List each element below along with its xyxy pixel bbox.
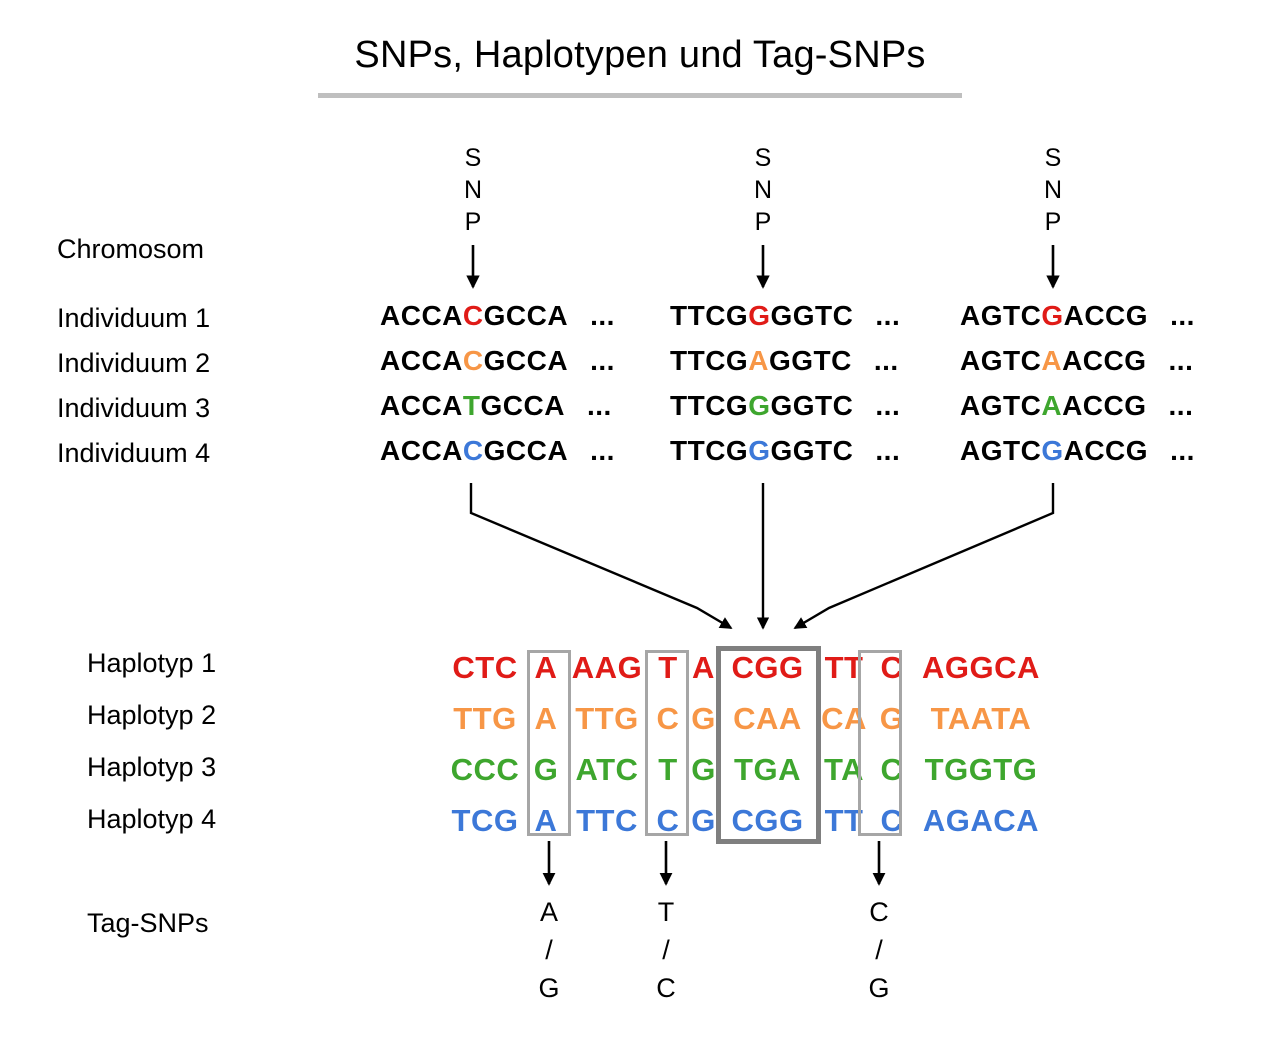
haplotype-cell: TGA bbox=[720, 752, 815, 788]
page-title: SNPs, Haplotypen und Tag-SNPs bbox=[0, 34, 1280, 77]
haplotype-row-3: CCCGATCTGTGATACTGGTG bbox=[443, 752, 1051, 803]
sequence-snp-base: A bbox=[1041, 345, 1062, 377]
sequence-suffix: GCCA bbox=[484, 300, 568, 332]
sequence-prefix: TTCG bbox=[670, 390, 748, 422]
haplotype-label-3: Haplotyp 3 bbox=[87, 752, 216, 783]
haplotype-cell: TCG bbox=[443, 803, 527, 839]
sequence-suffix: GGTC bbox=[771, 300, 854, 332]
sequence-ellipsis: ... bbox=[1170, 435, 1195, 467]
haplotype-row-4: TCGATTCCGCGGTTCAGACA bbox=[443, 803, 1051, 854]
sequence-snp-base: G bbox=[748, 435, 770, 467]
haplotype-cell: TA bbox=[815, 752, 873, 788]
snp-marker-1-letter-p: P bbox=[458, 206, 488, 238]
haplotype-block: CTCAAAGTACGGTTCAGGCATTGATTGCGCAACAGTAATA… bbox=[443, 650, 1051, 854]
sequence-snp-base: C bbox=[463, 300, 484, 332]
haplotype-cell: CCC bbox=[443, 752, 527, 788]
haplotype-cell: TGGTG bbox=[911, 752, 1051, 788]
haplotype-cell: T bbox=[649, 650, 687, 686]
sequence-snp-base: G bbox=[1041, 435, 1063, 467]
tag-snp-readout-1-slash: / bbox=[529, 931, 569, 969]
sequence-row-4-block-2: TTCGGGGTC... bbox=[670, 435, 900, 469]
haplotype-cell: AGACA bbox=[911, 803, 1051, 839]
sequence-row-4-block-3: AGTCGACCG... bbox=[960, 435, 1195, 469]
haplotype-cell: G bbox=[687, 752, 720, 788]
sequence-suffix: GGTC bbox=[771, 435, 854, 467]
sequence-prefix: AGTC bbox=[960, 300, 1041, 332]
arrow-overlay bbox=[0, 0, 1280, 1057]
haplotype-cell: CGG bbox=[720, 803, 815, 839]
sequence-ellipsis: ... bbox=[1169, 390, 1194, 422]
sequence-prefix: ACCA bbox=[380, 300, 463, 332]
sequence-ellipsis: ... bbox=[587, 390, 612, 422]
snp-marker-1-letter-s: S bbox=[458, 142, 488, 174]
sequence-suffix: GCCA bbox=[484, 435, 568, 467]
tag-snp-readout-2-slash: / bbox=[646, 931, 686, 969]
sequence-snp-base: G bbox=[748, 300, 770, 332]
sequence-ellipsis: ... bbox=[590, 345, 615, 377]
haplotype-label-1: Haplotyp 1 bbox=[87, 648, 216, 679]
sequence-row-1-block-3: AGTCGACCG... bbox=[960, 300, 1195, 334]
sequence-row-1-block-2: TTCGGGGTC... bbox=[670, 300, 900, 334]
haplotype-cell: C bbox=[649, 701, 687, 737]
haplotype-cell: TT bbox=[815, 650, 873, 686]
sequence-prefix: TTCG bbox=[670, 435, 748, 467]
individual-label-4: Individuum 4 bbox=[57, 438, 210, 469]
sequence-row-3-block-3: AGTCAACCG... bbox=[960, 390, 1193, 424]
haplotype-cell: CGG bbox=[720, 650, 815, 686]
tag-snp-readout-2: T / C bbox=[646, 893, 686, 1007]
sequence-ellipsis: ... bbox=[1169, 345, 1194, 377]
haplotype-label-2: Haplotyp 2 bbox=[87, 700, 216, 731]
snp-marker-1: S N P bbox=[458, 142, 488, 238]
snp-marker-1-letter-n: N bbox=[458, 174, 488, 206]
haplotype-cell: C bbox=[873, 752, 911, 788]
sequence-suffix: GGTC bbox=[769, 345, 852, 377]
sequence-suffix: ACCG bbox=[1062, 345, 1146, 377]
sequence-suffix: GCCA bbox=[481, 390, 565, 422]
tag-snps-label: Tag-SNPs bbox=[87, 908, 209, 939]
tag-snp-readout-1-bottom: G bbox=[529, 969, 569, 1007]
sequence-prefix: ACCA bbox=[380, 345, 463, 377]
snp-marker-3: S N P bbox=[1038, 142, 1068, 238]
sequence-prefix: ACCA bbox=[380, 435, 463, 467]
haplotype-cell: TTG bbox=[443, 701, 527, 737]
sequence-prefix: AGTC bbox=[960, 390, 1041, 422]
sequence-ellipsis: ... bbox=[1170, 300, 1195, 332]
sequence-ellipsis: ... bbox=[875, 300, 900, 332]
connector-right bbox=[795, 483, 1053, 628]
sequence-row-4-block-1: ACCACGCCA... bbox=[380, 435, 615, 469]
sequence-suffix: ACCG bbox=[1062, 390, 1146, 422]
haplotype-row-2: TTGATTGCGCAACAGTAATA bbox=[443, 701, 1051, 752]
haplotype-cell: A bbox=[527, 803, 565, 839]
snp-marker-2-letter-n: N bbox=[748, 174, 778, 206]
haplotype-cell: CA bbox=[815, 701, 873, 737]
tag-snp-readout-3-bottom: G bbox=[859, 969, 899, 1007]
sequence-ellipsis: ... bbox=[874, 345, 899, 377]
chromosom-label: Chromosom bbox=[57, 234, 204, 265]
sequence-ellipsis: ... bbox=[590, 300, 615, 332]
sequence-prefix: ACCA bbox=[380, 390, 463, 422]
haplotype-cell: A bbox=[687, 650, 720, 686]
sequence-row-1-block-1: ACCACGCCA... bbox=[380, 300, 615, 334]
sequence-snp-base: A bbox=[748, 345, 769, 377]
haplotype-cell: C bbox=[649, 803, 687, 839]
haplotype-cell: G bbox=[687, 701, 720, 737]
individual-label-2: Individuum 2 bbox=[57, 348, 210, 379]
haplotype-cell: T bbox=[649, 752, 687, 788]
sequence-ellipsis: ... bbox=[875, 435, 900, 467]
haplotype-cell: AAG bbox=[565, 650, 649, 686]
individual-label-3: Individuum 3 bbox=[57, 393, 210, 424]
sequence-suffix: GCCA bbox=[484, 345, 568, 377]
tag-snp-readout-3-slash: / bbox=[859, 931, 899, 969]
haplotype-cell: C bbox=[873, 650, 911, 686]
sequence-suffix: GGTC bbox=[771, 390, 854, 422]
haplotype-cell: TT bbox=[815, 803, 873, 839]
title-underline-rule bbox=[318, 93, 962, 98]
sequence-snp-base: A bbox=[1041, 390, 1062, 422]
sequence-snp-base: T bbox=[463, 390, 481, 422]
sequence-snp-base: G bbox=[1041, 300, 1063, 332]
tag-snp-readout-3: C / G bbox=[859, 893, 899, 1007]
sequence-prefix: TTCG bbox=[670, 345, 748, 377]
tag-snp-readout-2-bottom: C bbox=[646, 969, 686, 1007]
sequence-snp-base: C bbox=[463, 345, 484, 377]
tag-snp-readout-2-top: T bbox=[646, 893, 686, 931]
snp-marker-3-letter-s: S bbox=[1038, 142, 1068, 174]
sequence-row-2-block-3: AGTCAACCG... bbox=[960, 345, 1193, 379]
sequence-prefix: TTCG bbox=[670, 300, 748, 332]
haplotype-cell: G bbox=[873, 701, 911, 737]
snp-marker-3-letter-p: P bbox=[1038, 206, 1068, 238]
tag-snp-readout-1: A / G bbox=[529, 893, 569, 1007]
snp-marker-2-letter-p: P bbox=[748, 206, 778, 238]
sequence-ellipsis: ... bbox=[590, 435, 615, 467]
haplotype-cell: CAA bbox=[720, 701, 815, 737]
sequence-snp-base: G bbox=[748, 390, 770, 422]
haplotype-cell: AGGCA bbox=[911, 650, 1051, 686]
haplotype-cell: G bbox=[527, 752, 565, 788]
tag-snp-readout-1-top: A bbox=[529, 893, 569, 931]
haplotype-cell: TAATA bbox=[911, 701, 1051, 737]
sequence-suffix: ACCG bbox=[1064, 300, 1148, 332]
haplotype-label-4: Haplotyp 4 bbox=[87, 804, 216, 835]
sequence-prefix: AGTC bbox=[960, 345, 1041, 377]
haplotype-cell: TTG bbox=[565, 701, 649, 737]
sequence-row-3-block-2: TTCGGGGTC... bbox=[670, 390, 900, 424]
sequence-row-2-block-1: ACCACGCCA... bbox=[380, 345, 615, 379]
haplotype-cell: A bbox=[527, 650, 565, 686]
snp-marker-2: S N P bbox=[748, 142, 778, 238]
sequence-row-2-block-2: TTCGAGGTC... bbox=[670, 345, 899, 379]
snp-marker-2-letter-s: S bbox=[748, 142, 778, 174]
haplotype-cell: C bbox=[873, 803, 911, 839]
tag-snp-readout-3-top: C bbox=[859, 893, 899, 931]
sequence-snp-base: C bbox=[463, 435, 484, 467]
sequence-suffix: ACCG bbox=[1064, 435, 1148, 467]
individual-label-1: Individuum 1 bbox=[57, 303, 210, 334]
sequence-ellipsis: ... bbox=[875, 390, 900, 422]
haplotype-cell: ATC bbox=[565, 752, 649, 788]
haplotype-cell: TTC bbox=[565, 803, 649, 839]
snp-marker-3-letter-n: N bbox=[1038, 174, 1068, 206]
connector-left bbox=[471, 483, 731, 628]
haplotype-cell: A bbox=[527, 701, 565, 737]
haplotype-cell: G bbox=[687, 803, 720, 839]
sequence-row-3-block-1: ACCATGCCA... bbox=[380, 390, 612, 424]
haplotype-row-1: CTCAAAGTACGGTTCAGGCA bbox=[443, 650, 1051, 701]
haplotype-cell: CTC bbox=[443, 650, 527, 686]
sequence-prefix: AGTC bbox=[960, 435, 1041, 467]
